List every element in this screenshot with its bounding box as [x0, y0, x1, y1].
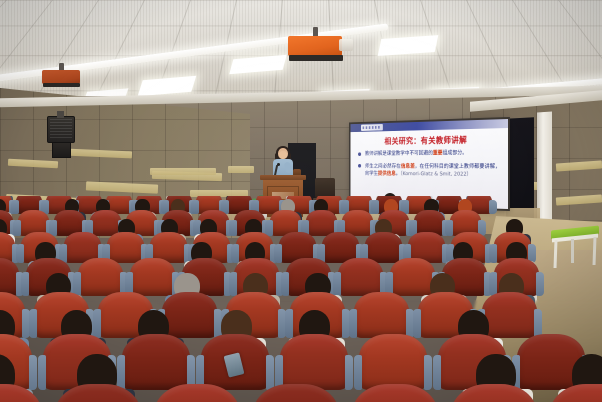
projector-body [42, 70, 80, 84]
auditorium-seat [253, 384, 339, 402]
slide-text-segment: 提供信息 [378, 171, 396, 177]
slide-text-segment: 重要 [433, 151, 443, 157]
slide-bullet-1-text: 教师讲解是课堂教学中不可回避的重要组成部分。 [365, 150, 467, 156]
seat-cushion [162, 292, 217, 338]
microphone-head-icon [277, 163, 280, 166]
seat-cushion [352, 384, 438, 402]
auditorium-seat [280, 334, 348, 390]
slide-bullet-2: 师生之间必然存在信息差，在任何科目的课堂上教师都要讲解，向学生提供信息。（Kom… [358, 163, 500, 180]
wall-speaker [47, 116, 75, 143]
seat-cushion [0, 384, 42, 402]
audience-seating [0, 196, 602, 402]
auditorium-seat [55, 384, 141, 402]
slide-text-segment: 组成部分。 [443, 150, 468, 156]
projector-base [43, 83, 80, 87]
seat-armrest [281, 272, 289, 296]
speaker-grille [50, 119, 72, 140]
auditorium-seat [78, 258, 123, 296]
auditorium-seat [130, 258, 175, 296]
university-logo-icon [361, 124, 383, 131]
seat-cushion [280, 334, 348, 390]
slide-bullet-list: 教师讲解是课堂教学中不可回避的重要组成部分。 师生之间必然存在信息差，在任何科目… [358, 149, 500, 184]
slide-text-segment: 师生之间必然存在 [365, 164, 401, 170]
auditorium-seat [451, 384, 537, 402]
seat-cushion [482, 292, 537, 338]
seat-cushion [338, 258, 383, 296]
seat-cushion [55, 384, 141, 402]
seat-armrest [489, 200, 497, 214]
wall-accent-strip [150, 168, 216, 175]
auditorium-seat [352, 384, 438, 402]
projector-base [289, 55, 343, 61]
ceiling-projector-secondary [42, 70, 80, 84]
bullet-dot-icon [358, 152, 361, 156]
seat-armrest [536, 272, 544, 296]
seat-cushion [78, 258, 123, 296]
seat-armrest [349, 309, 357, 338]
auditorium-seat [122, 334, 190, 390]
slide-bullet-2-text: 师生之间必然存在信息差，在任何科目的课堂上教师都要讲解，向学生提供信息。（Kom… [365, 164, 500, 178]
seat-cushion [253, 384, 339, 402]
auditorium-seat [162, 292, 217, 338]
seat-cushion [550, 384, 602, 402]
seat-cushion [130, 258, 175, 296]
seat-cushion [390, 258, 435, 296]
seat-cushion [359, 334, 427, 390]
slide-text-segment: 信息差 [401, 164, 415, 170]
auditorium-seat [359, 334, 427, 390]
presenter-face [279, 151, 287, 159]
seat-cushion [451, 384, 537, 402]
ceiling-projector-main [288, 36, 342, 56]
chair-back [315, 178, 335, 198]
seat-cushion [122, 334, 190, 390]
speaker-subwoofer [52, 142, 71, 158]
auditorium-seat [390, 258, 435, 296]
slide-bullet-1: 教师讲解是课堂教学中不可回避的重要组成部分。 [358, 149, 500, 158]
projector-body [288, 36, 342, 56]
auditorium-seat [0, 258, 19, 296]
auditorium-seat [550, 384, 602, 402]
auditorium-photo: 相关研究：有关教师讲解 教师讲解是课堂教学中不可回避的重要组成部分。 师生之间必… [0, 0, 602, 402]
auditorium-seat [482, 292, 537, 338]
seat-cushion [154, 384, 240, 402]
auditorium-seat [338, 258, 383, 296]
bullet-dot-icon [358, 164, 361, 168]
seat-cushion [354, 292, 409, 338]
slide-text-segment: 教师讲解是课堂教学中不可回避的 [365, 151, 433, 157]
slide-title: 相关研究：有关教师讲解 [351, 133, 508, 147]
slide-text-segment: （Komori-Glatz & Smit, 2022） [400, 171, 471, 177]
auditorium-seat [354, 292, 409, 338]
projector-lens [339, 39, 353, 51]
speaker-bracket [57, 111, 64, 118]
auditorium-seat [154, 384, 240, 402]
wall-accent-strip [228, 166, 254, 173]
auditorium-seat [0, 384, 42, 402]
